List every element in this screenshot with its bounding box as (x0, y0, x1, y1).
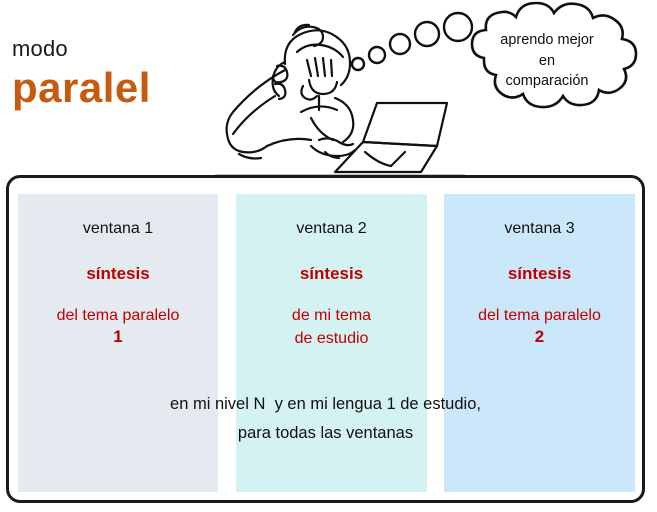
synthesis-title-1: síntesis (18, 264, 218, 284)
window-column-3[interactable]: ventana 3 síntesis del tema paralelo 2 (444, 194, 635, 492)
synthesis-desc-2-line-2: de estudio (236, 327, 427, 350)
synthesis-desc-2-line-1: de mi tema (236, 304, 427, 327)
header-area: modo paralel (0, 0, 657, 175)
synthesis-number-1: 1 (18, 327, 218, 347)
synthesis-desc-2: de mi tema de estudio (236, 304, 427, 350)
thought-bubble-line-2: en (462, 51, 632, 72)
window-label-2: ventana 2 (236, 220, 427, 238)
window-column-1[interactable]: ventana 1 síntesis del tema paralelo 1 (18, 194, 218, 492)
thought-bubble-line-1: aprendo mejor (462, 30, 632, 51)
synthesis-title-3: síntesis (444, 264, 635, 284)
thought-bubble-text: aprendo mejor en comparación (462, 30, 632, 92)
synthesis-number-3: 2 (444, 327, 635, 347)
synthesis-desc-1: del tema paralelo (18, 304, 218, 327)
window-label-3: ventana 3 (444, 220, 635, 238)
synthesis-desc-3: del tema paralelo (444, 304, 635, 327)
window-column-2[interactable]: ventana 2 síntesis de mi tema de estudio (236, 194, 427, 492)
window-label-1: ventana 1 (18, 220, 218, 238)
mode-value: paralel (12, 64, 151, 112)
thought-bubble-line-3: comparación (462, 71, 632, 92)
mode-label: modo (12, 36, 68, 62)
synthesis-title-2: síntesis (236, 264, 427, 284)
